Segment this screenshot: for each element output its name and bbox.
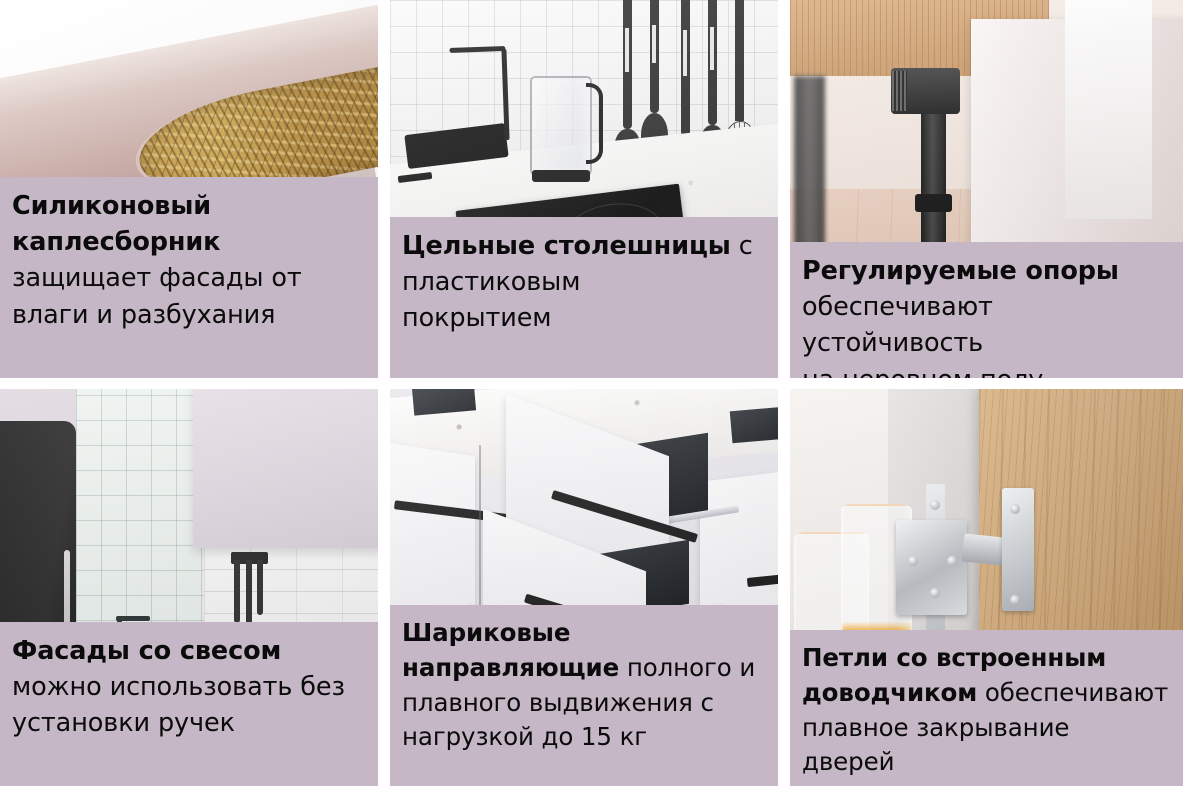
load-capacity: 15 кг: [581, 722, 647, 751]
caption-tail: с: [731, 231, 753, 261]
caption-soft-close-hinges: Петли со встроенным доводчиком обеспечив…: [790, 630, 1183, 786]
caption-line: Фасады со свесом: [12, 633, 364, 669]
caption-drip-catcher: Силиконовый каплесборник защищает фасады…: [0, 177, 378, 378]
caption-tail: обеспечивают: [977, 678, 1168, 707]
caption-bold: доводчиком: [802, 678, 977, 707]
caption-line: влаги и разбухания: [12, 297, 364, 333]
caption-line: доводчиком обеспечивают: [802, 676, 1169, 711]
feature-card-soft-close-hinges[interactable]: Петли со встроенным доводчиком обеспечив…: [790, 389, 1183, 786]
feature-card-overhang-fronts[interactable]: Фасады со свесом можно использовать без …: [0, 389, 378, 786]
feature-card-adjustable-legs[interactable]: Регулируемые опоры обеспечивают устойчив…: [790, 0, 1183, 378]
caption-line: Шариковые: [402, 616, 764, 651]
caption-tail: полного и: [619, 653, 755, 682]
caption-line: Петли со встроенным: [802, 641, 1169, 676]
caption-line: нагрузкой до 15 кг: [402, 720, 764, 755]
caption-line: покрытием: [402, 300, 764, 336]
caption-line: обеспечивают устойчивость: [802, 289, 1169, 361]
caption-solid-countertops: Цельные столешницы с пластиковым покрыти…: [390, 217, 778, 378]
caption-bold: направляющие: [402, 653, 619, 682]
feature-grid: Силиконовый каплесборник защищает фасады…: [0, 0, 1183, 786]
caption-line: пластиковым: [402, 264, 764, 300]
feature-card-solid-countertops[interactable]: Цельные столешницы с пластиковым покрыти…: [390, 0, 778, 378]
caption-line: Цельные столешницы с: [402, 228, 764, 264]
feature-card-drip-catcher[interactable]: Силиконовый каплесборник защищает фасады…: [0, 0, 378, 378]
caption-line: на неровном полу: [802, 362, 1169, 378]
feature-card-ball-bearing-slides[interactable]: Шариковые направляющие полного и плавног…: [390, 389, 778, 786]
caption-bold: Цельные столешницы: [402, 231, 731, 261]
caption-line: Силиконовый: [12, 188, 364, 224]
caption-line: установки ручек: [12, 705, 364, 741]
caption-line: каплесборник: [12, 224, 364, 260]
caption-line: защищает фасады от: [12, 260, 364, 296]
caption-line: Регулируемые опоры: [802, 253, 1169, 289]
caption-overhang-fronts: Фасады со свесом можно использовать без …: [0, 622, 378, 786]
caption-adjustable-legs: Регулируемые опоры обеспечивают устойчив…: [790, 242, 1183, 378]
caption-line: можно использовать без: [12, 669, 364, 705]
caption-line: плавного выдвижения с: [402, 686, 764, 721]
caption-line: направляющие полного и: [402, 651, 764, 686]
caption-line: плавное закрывание дверей: [802, 711, 1169, 781]
caption-ball-bearing-slides: Шариковые направляющие полного и плавног…: [390, 605, 778, 786]
